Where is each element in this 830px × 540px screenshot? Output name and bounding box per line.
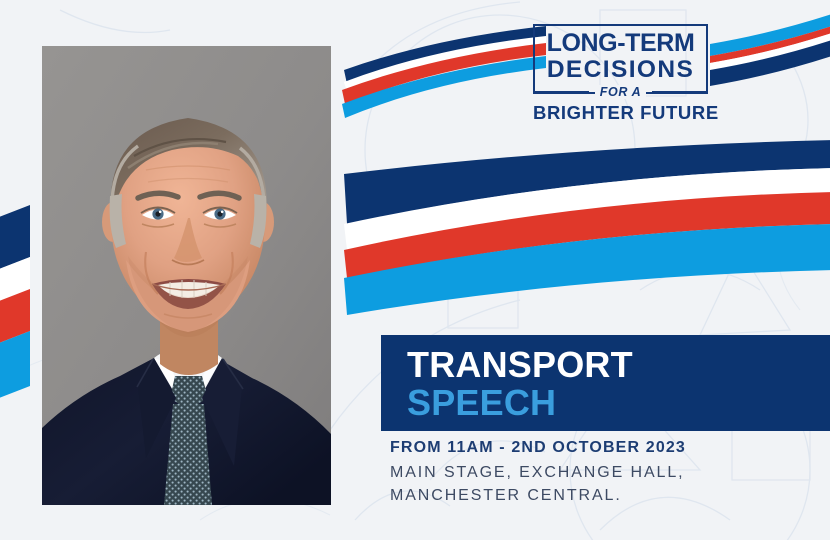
logo-line-decisions: DECISIONS: [543, 58, 698, 83]
headline-transport: TRANSPORT: [407, 347, 633, 383]
ribbon-main: [336, 140, 830, 315]
long-term-decisions-logo: LONG-TERM DECISIONS FOR A BRIGHTER FUTUR…: [533, 24, 708, 124]
logo-for-a-row: FOR A: [533, 85, 708, 99]
headline-panel: TRANSPORT SPEECH: [381, 335, 830, 431]
logo-rule-left: [533, 91, 589, 93]
speaker-portrait-photo: [42, 46, 331, 505]
event-venue-line-2: MANCHESTER CENTRAL.: [390, 485, 810, 508]
logo-rule-right: [652, 91, 708, 93]
ribbon-left-edge: [0, 205, 34, 400]
event-venue-line-1: MAIN STAGE, EXCHANGE HALL,: [390, 462, 810, 485]
event-venue: MAIN STAGE, EXCHANGE HALL, MANCHESTER CE…: [390, 462, 810, 507]
ribbon-top-right: [700, 0, 830, 105]
ribbon-top-bar: [338, 12, 548, 122]
logo-box: LONG-TERM DECISIONS: [533, 24, 708, 94]
headline-speech: SPEECH: [407, 385, 556, 421]
event-time-date: FROM 11AM - 2ND OCTOBER 2023: [390, 438, 810, 458]
logo-line-long-term: LONG-TERM: [543, 31, 698, 56]
logo-line-brighter-future: BRIGHTER FUTURE: [533, 102, 708, 124]
logo-line-for-a: FOR A: [595, 85, 646, 99]
promo-card: LONG-TERM DECISIONS FOR A BRIGHTER FUTUR…: [0, 0, 830, 540]
event-details: FROM 11AM - 2ND OCTOBER 2023 MAIN STAGE,…: [390, 438, 810, 507]
